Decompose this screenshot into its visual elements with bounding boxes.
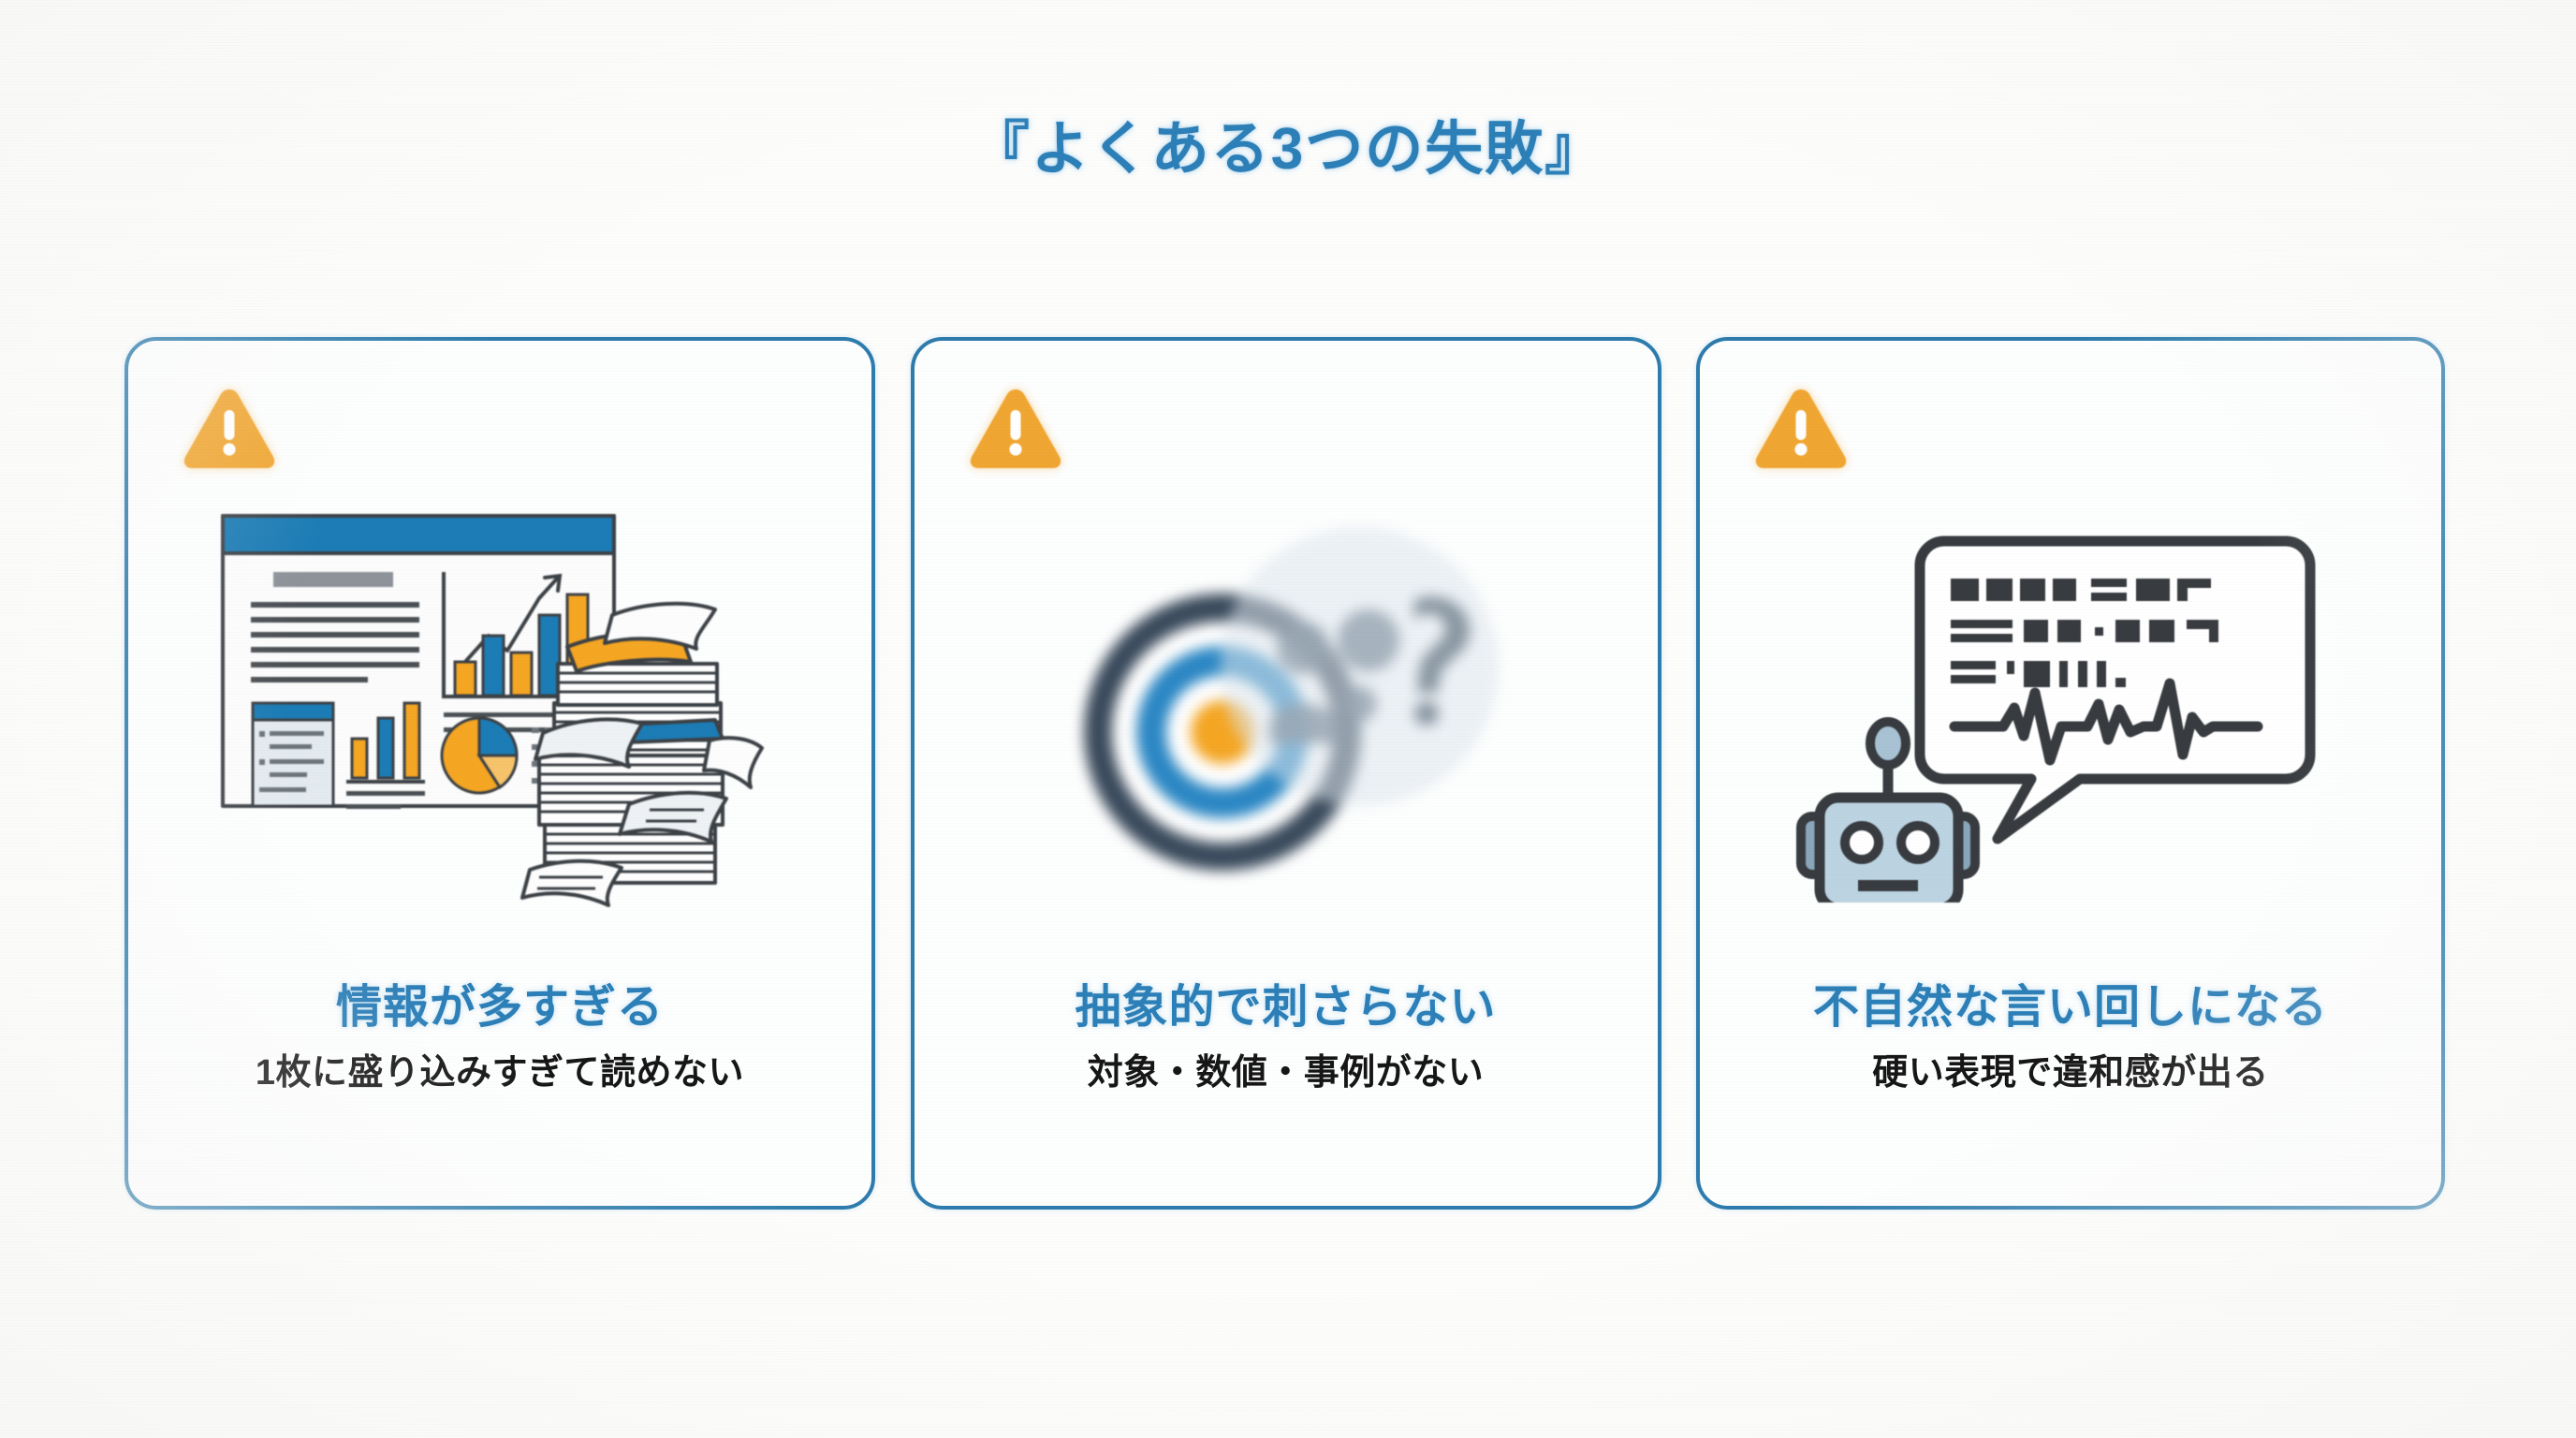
warning-triangle-icon [1752, 384, 1850, 472]
failure-cards-row: 情報が多すぎる 1枚に盛り込みすぎて読めない [124, 337, 2445, 1210]
failure-card-1[interactable]: 情報が多すぎる 1枚に盛り込みすぎて読めない [124, 337, 875, 1210]
card-3-illustration [1700, 481, 2441, 931]
page-title: 『よくある3つの失敗』 [0, 101, 2576, 185]
card-2-subtext: 対象・数値・事例がない [915, 1043, 1658, 1094]
failure-card-2[interactable]: 抽象的で刺さらない 対象・数値・事例がない [911, 337, 1661, 1210]
card-3-subtext: 硬い表現で違和感が出る [1700, 1043, 2441, 1094]
warning-triangle-icon [967, 384, 1064, 472]
card-1-heading: 情報が多すぎる [128, 970, 871, 1036]
card-1-subtext: 1枚に盛り込みすぎて読めない [128, 1043, 871, 1094]
card-2-heading: 抽象的で刺さらない [915, 970, 1658, 1036]
card-3-heading: 不自然な言い回しになる [1700, 970, 2441, 1036]
card-1-illustration [128, 481, 871, 931]
warning-triangle-icon [181, 384, 278, 472]
blurred-target-with-question-audience-icon [1005, 509, 1567, 902]
failure-card-3[interactable]: 不自然な言い回しになる 硬い表現で違和感が出る [1696, 337, 2445, 1210]
card-2-illustration [915, 481, 1658, 931]
robot-speech-bubble-icon [1790, 509, 2351, 902]
overloaded-document-and-paper-stack-icon [210, 505, 790, 907]
